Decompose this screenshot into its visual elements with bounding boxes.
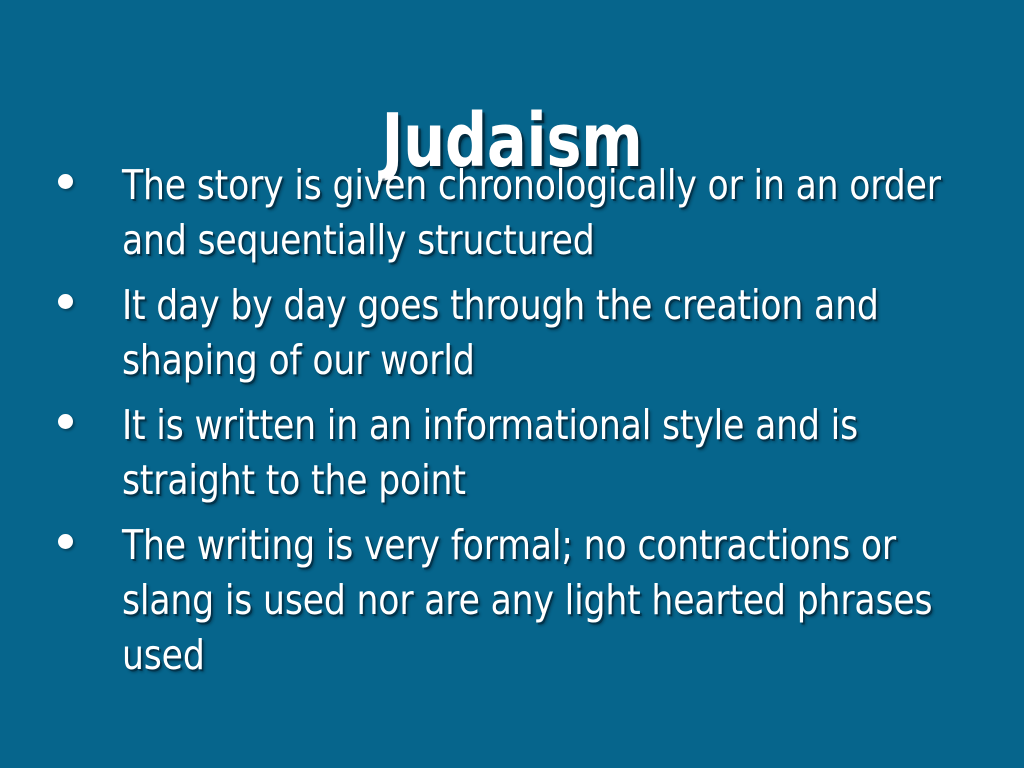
bullet-text: The writing is very formal; no contracti…: [122, 518, 984, 683]
list-item: The story is given chronologically or in…: [40, 158, 984, 268]
bullet-text: It is written in an informational style …: [122, 398, 984, 508]
list-item: The writing is very formal; no contracti…: [40, 518, 984, 683]
list-item: It day by day goes through the creation …: [40, 278, 984, 388]
bullet-text: The story is given chronologically or in…: [122, 158, 984, 268]
bullet-list: The story is given chronologically or in…: [40, 158, 984, 693]
round-bullet-icon: [58, 534, 73, 549]
bullet-text: It day by day goes through the creation …: [122, 278, 984, 388]
round-bullet-icon: [58, 174, 73, 189]
list-item: It is written in an informational style …: [40, 398, 984, 508]
presentation-slide: Judaism The story is given chronological…: [0, 0, 1024, 768]
round-bullet-icon: [58, 294, 73, 309]
round-bullet-icon: [58, 414, 73, 429]
